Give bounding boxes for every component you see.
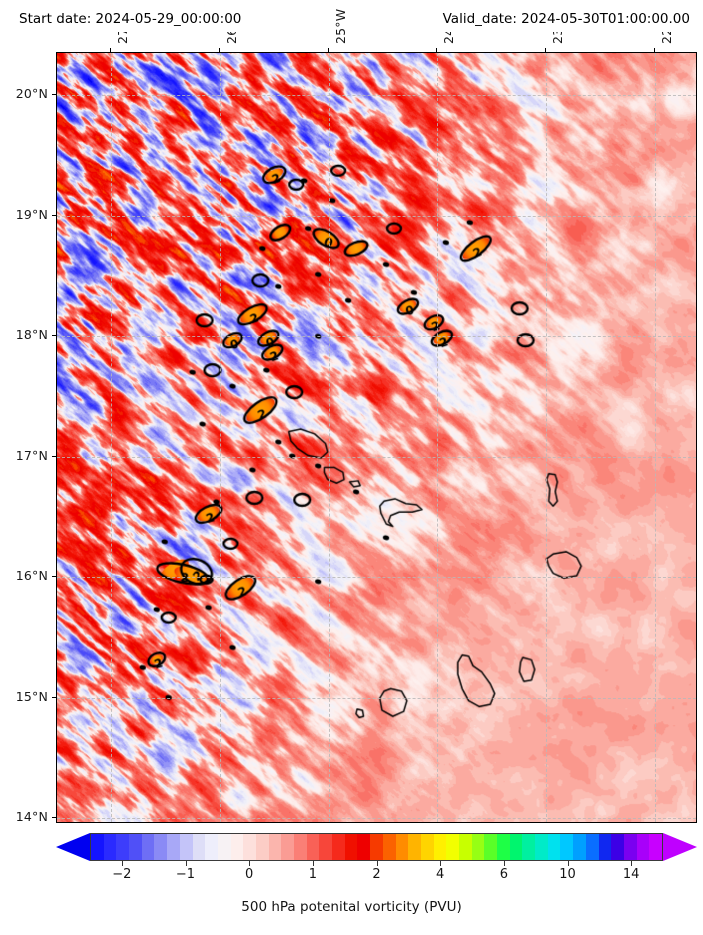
colorbar-swatch xyxy=(319,834,332,860)
latitude-tickmark xyxy=(52,697,56,698)
latitude-tickmark xyxy=(52,94,56,95)
colorbar-swatch xyxy=(205,834,218,860)
colorbar-swatch xyxy=(256,834,269,860)
colorbar-tickmark xyxy=(440,861,441,866)
colorbar-tick-label: 14 xyxy=(623,867,640,882)
potential-vorticity-field xyxy=(57,53,696,822)
colorbar-tickmark xyxy=(568,861,569,866)
colorbar-caption: 500 hPa potenital vorticity (PVU) xyxy=(0,899,703,915)
longitude-tickmark xyxy=(219,48,220,52)
colorbar-swatch xyxy=(294,834,307,860)
latitude-tick-label: 20°N xyxy=(0,86,48,101)
colorbar-swatch xyxy=(599,834,612,860)
latitude-tick-label: 15°N xyxy=(0,689,48,704)
colorbar-swatch xyxy=(383,834,396,860)
colorbar-swatch xyxy=(459,834,472,860)
colorbar-tick-label: 6 xyxy=(500,867,508,882)
longitude-tickmark xyxy=(110,48,111,52)
colorbar-swatch xyxy=(472,834,485,860)
colorbar-swatch xyxy=(637,834,650,860)
colorbar-swatch xyxy=(408,834,421,860)
colorbar-swatch xyxy=(611,834,624,860)
colorbar-swatch xyxy=(649,834,662,860)
colorbar-swatch xyxy=(396,834,409,860)
colorbar-swatch xyxy=(434,834,447,860)
colorbar-swatch xyxy=(142,834,155,860)
colorbar-swatch xyxy=(332,834,345,860)
colorbar-swatch xyxy=(269,834,282,860)
colorbar-swatch xyxy=(116,834,129,860)
colorbar-swatch xyxy=(421,834,434,860)
longitude-tickmark xyxy=(654,48,655,52)
colorbar-swatch xyxy=(484,834,497,860)
colorbar-swatch xyxy=(548,834,561,860)
longitude-tick-label: 25°W xyxy=(333,9,348,44)
colorbar-swatch xyxy=(560,834,573,860)
colorbar-swatch xyxy=(446,834,459,860)
colorbar-swatch xyxy=(104,834,117,860)
latitude-tick-label: 19°N xyxy=(0,207,48,222)
colorbar-swatch xyxy=(624,834,637,860)
colorbar-swatch xyxy=(586,834,599,860)
colorbar-swatch xyxy=(497,834,510,860)
colorbar-swatch xyxy=(345,834,358,860)
latitude-tickmark xyxy=(52,335,56,336)
latitude-tickmark xyxy=(52,576,56,577)
colorbar-swatch xyxy=(281,834,294,860)
colorbar-tickmark xyxy=(186,861,187,866)
colorbar-swatch xyxy=(154,834,167,860)
colorbar-swatch xyxy=(218,834,231,860)
latitude-tick-label: 14°N xyxy=(0,809,48,824)
valid-date-annotation: Valid_date: 2024-05-30T01:00:00.00 xyxy=(436,9,697,32)
colorbar-tick-label: 0 xyxy=(245,867,253,882)
colorbar-tickmark xyxy=(313,861,314,866)
latitude-tick-label: 18°N xyxy=(0,327,48,342)
colorbar-tick-label: −1 xyxy=(176,867,195,882)
colorbar-swatch xyxy=(243,834,256,860)
colorbar-tickmark xyxy=(249,861,250,866)
colorbar-swatch xyxy=(129,834,142,860)
colorbar-tickmark xyxy=(631,861,632,866)
colorbar-tickmark xyxy=(122,861,123,866)
latitude-tickmark xyxy=(52,817,56,818)
figure-canvas: 27°W26°W25°W24°W23°W22°W 20°N19°N18°N17°… xyxy=(0,0,703,935)
colorbar-swatch xyxy=(522,834,535,860)
colorbar-swatch xyxy=(91,834,104,860)
colorbar-swatch xyxy=(510,834,523,860)
colorbar-tick-label: −2 xyxy=(112,867,131,882)
colorbar-swatch xyxy=(193,834,206,860)
latitude-tickmark xyxy=(52,215,56,216)
colorbar-tick-label: 10 xyxy=(559,867,576,882)
start-date-annotation: Start date: 2024-05-29_00:00:00 xyxy=(12,9,248,32)
colorbar-tick-label: 4 xyxy=(436,867,444,882)
colorbar-swatch xyxy=(180,834,193,860)
longitude-tickmark xyxy=(328,48,329,52)
colorbar-swatch xyxy=(167,834,180,860)
colorbar-tickmark xyxy=(377,861,378,866)
colorbar[interactable]: −2−1012461014 xyxy=(56,833,697,861)
colorbar-gradient xyxy=(90,833,663,861)
colorbar-swatch xyxy=(370,834,383,860)
longitude-tickmark xyxy=(436,48,437,52)
colorbar-tick-label: 1 xyxy=(309,867,317,882)
colorbar-swatch xyxy=(573,834,586,860)
latitude-tickmark xyxy=(52,456,56,457)
colorbar-swatch xyxy=(231,834,244,860)
map-plot-area[interactable] xyxy=(56,52,697,823)
colorbar-swatch xyxy=(307,834,320,860)
longitude-tickmark xyxy=(545,48,546,52)
latitude-tick-label: 16°N xyxy=(0,568,48,583)
colorbar-tick-label: 2 xyxy=(372,867,380,882)
colorbar-under-arrow xyxy=(56,833,90,861)
latitude-tick-label: 17°N xyxy=(0,448,48,463)
colorbar-swatch xyxy=(357,834,370,860)
colorbar-tickmark xyxy=(504,861,505,866)
colorbar-over-arrow xyxy=(663,833,697,861)
colorbar-swatch xyxy=(535,834,548,860)
